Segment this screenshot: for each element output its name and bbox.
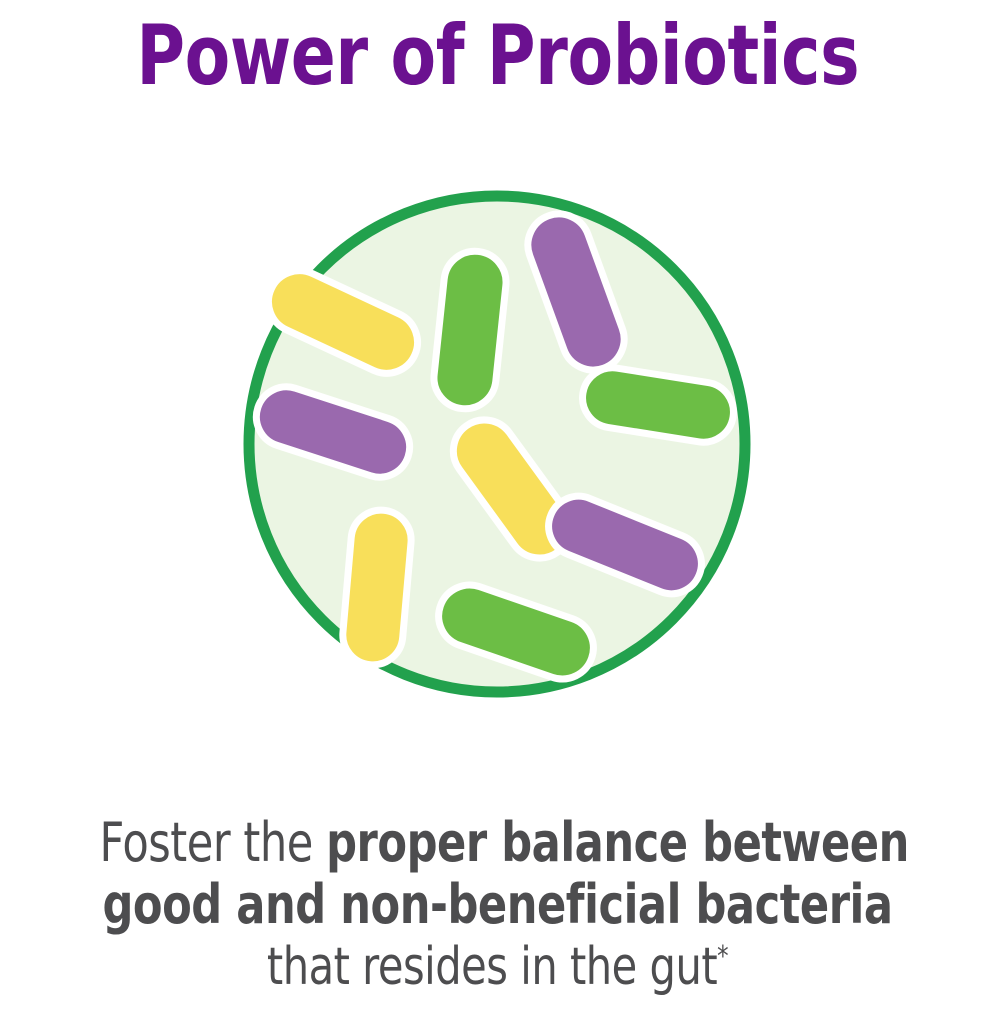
caption-block: Foster the proper balance between good a… [0, 812, 995, 998]
caption-line-3-text: that resides in the gut [267, 937, 717, 997]
page-title: Power of Probiotics [136, 14, 859, 97]
caption-line-1-lead: Foster the [100, 811, 327, 874]
caption-line-1: Foster the proper balance between [100, 812, 896, 874]
caption-line-3: that resides in the gut* [100, 936, 896, 998]
caption-line-2: good and non-beneficial bacteria [100, 874, 896, 936]
rod-green-upper-center [431, 248, 509, 412]
probiotics-infographic: Power of Probiotics [0, 0, 995, 1024]
probiotic-illustration [0, 140, 995, 760]
caption-line-1-strong: proper balance between [326, 811, 909, 874]
page-title-area: Power of Probiotics [0, 0, 995, 110]
rod-yellow-lower-left [340, 508, 413, 668]
footnote-asterisk: * [717, 939, 728, 973]
probiotic-colony-svg [0, 140, 995, 760]
